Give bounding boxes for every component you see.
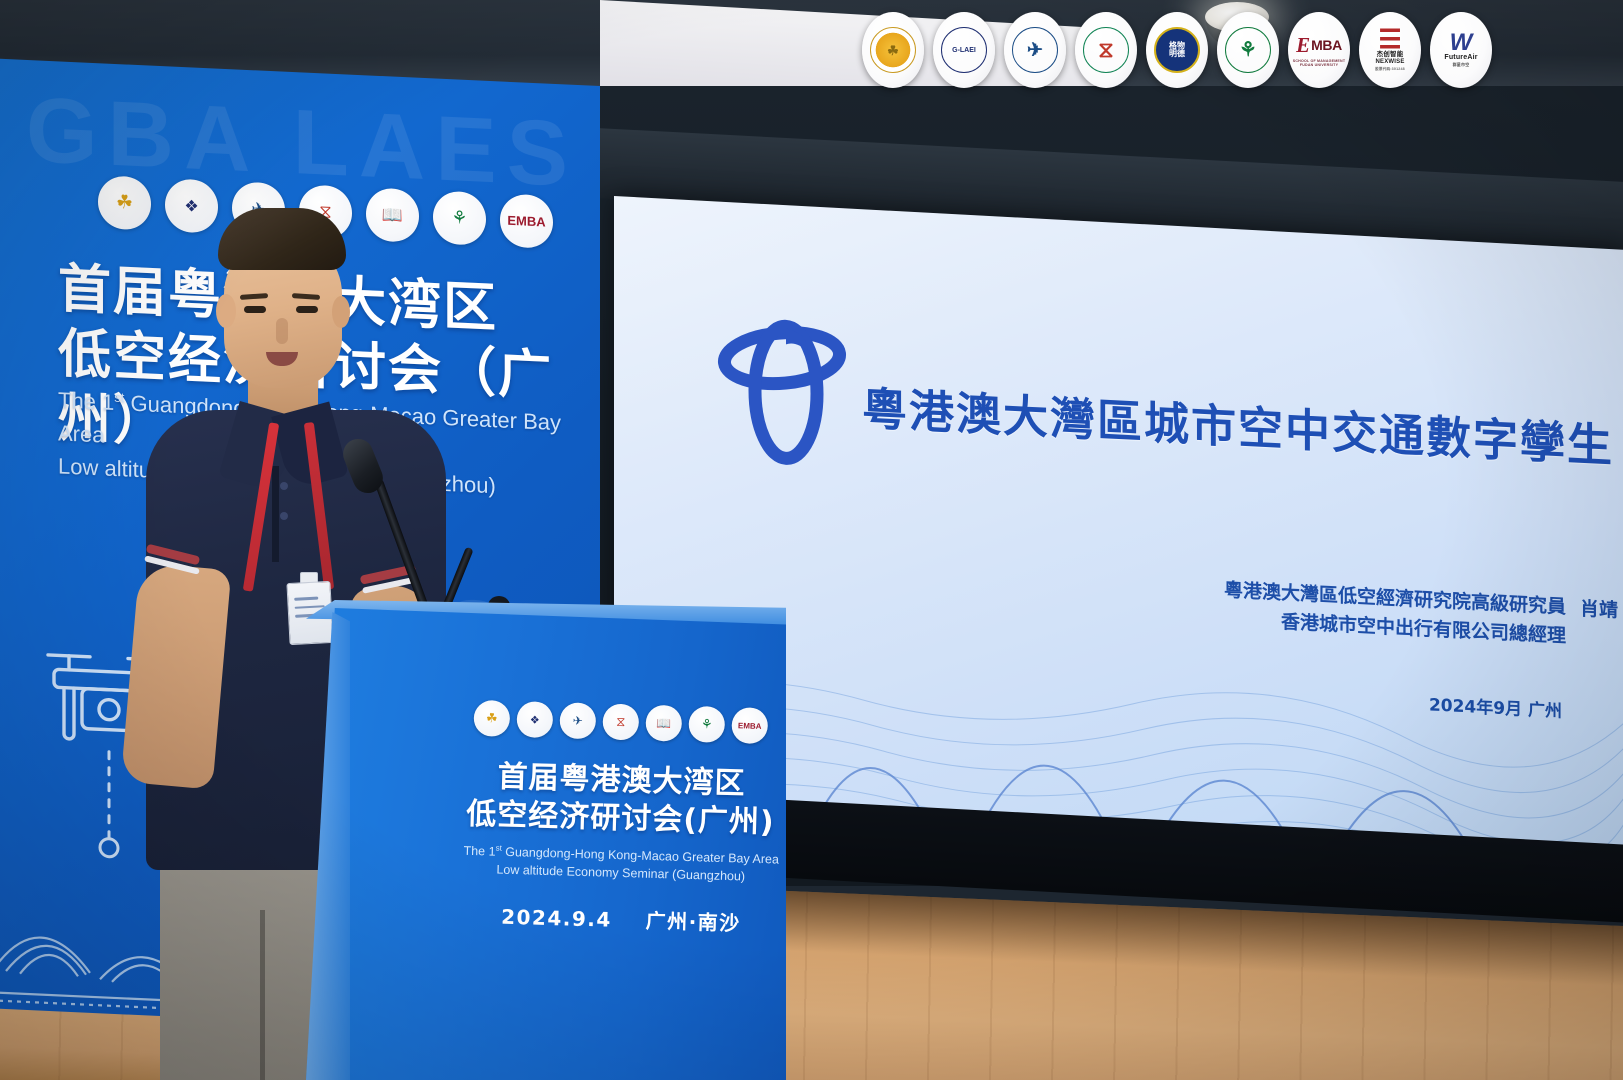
- lectern-logo-g-laei: ❖: [516, 701, 553, 738]
- presenter-eye-left: [244, 306, 266, 313]
- fudan-sub-label: SCHOOL OF MANAGEMENT FUDAN UNIVERSITY: [1288, 59, 1350, 67]
- futureair-en-label: FutureAir: [1444, 54, 1477, 62]
- wheat-crest-icon: ⚘: [1225, 27, 1271, 73]
- backdrop-logo-fudan-emba: EMBA: [500, 193, 553, 248]
- slide-title: 粵港澳大灣區城市空中交通數字孿生: [862, 372, 1614, 474]
- presenter-ear-left: [216, 294, 236, 328]
- lectern-logo-civil-aviation: ✈: [559, 702, 596, 739]
- open-book-icon: 格物明德: [1154, 27, 1200, 73]
- lectern-logo-phoenix: ☘: [473, 700, 510, 737]
- phoenix-icon: ☘: [870, 27, 916, 73]
- lectern-title: 首届粤港澳大湾区 低空经济研讨会(广州): [456, 757, 786, 842]
- presenter-hair: [218, 208, 346, 270]
- presenter-nose: [276, 318, 288, 344]
- polo-button-bottom: [280, 512, 288, 520]
- nexwise-code-label: 股票代码:301248: [1375, 67, 1405, 71]
- spiral-icon: ⧖: [1083, 27, 1129, 73]
- futureair-w-icon: W: [1450, 33, 1473, 53]
- badge-text-line-2: [295, 605, 325, 609]
- logo-nexwise-seal: ☰ 杰创智能 NEXWISE 股票代码:301248: [1359, 12, 1421, 88]
- logo-guangzhou-institute-seal: ⧖: [1075, 12, 1137, 88]
- orbital-globe-icon: [712, 303, 852, 478]
- logo-futureair-seal: W FutureAir 群星市空: [1430, 12, 1492, 88]
- nexwise-mark-icon: ☰: [1378, 29, 1401, 50]
- screenshot-scene: ☘ G-LAEI ✈ ⧖ 格物明德 ⚘: [0, 0, 1623, 1080]
- badge-text-line-1: [294, 597, 318, 601]
- presenter-eye-right: [296, 306, 318, 313]
- presenter-left-arm: [121, 562, 232, 789]
- polo-button-top: [280, 482, 288, 490]
- logo-fudan-emba-seal: E MBA SCHOOL OF MANAGEMENT FUDAN UNIVERS…: [1288, 12, 1350, 88]
- polo-placket: [272, 466, 279, 562]
- logo-must-macau-seal: 格物明德: [1146, 12, 1208, 88]
- logo-scau-university-seal: ⚘: [1217, 12, 1279, 88]
- fudan-mba-label: MBA: [1311, 37, 1342, 53]
- logo-g-laei-seal: G-LAEI: [933, 12, 995, 88]
- trouser-seam: [260, 910, 265, 1080]
- futureair-cn-label: 群星市空: [1453, 63, 1470, 67]
- lectern-date: 2024.9.4: [501, 905, 612, 932]
- lectern-logo-scau: ⚘: [688, 706, 725, 743]
- lectern-location: 广州·南沙: [645, 909, 741, 936]
- lectern-logo-must-macau: 📖: [645, 705, 682, 742]
- nexwise-cn-label: 杰创智能: [1377, 51, 1404, 58]
- lectern-date-row: 2024.9.4 广州·南沙: [456, 899, 786, 937]
- g-laei-icon: G-LAEI: [941, 27, 987, 73]
- logo-civil-aviation-seal: ✈: [1004, 12, 1066, 88]
- lectern-logo-fudan-emba: EMBA: [731, 707, 768, 744]
- nexwise-en-label: NEXWISE: [1375, 59, 1404, 66]
- presenter-ear-right: [332, 296, 350, 328]
- aviation-wing-icon: ✈: [1012, 27, 1058, 73]
- lectern-logo-row: ☘ ❖ ✈ ⧖ 📖 ⚘ EMBA: [456, 690, 786, 745]
- logo-gold-phoenix-seal: ☘: [862, 12, 924, 88]
- sponsor-logo-strip: ☘ G-LAEI ✈ ⧖ 格物明德 ⚘: [862, 12, 1492, 88]
- lectern-english: The 1st Guangdong-Hong Kong-Macao Greate…: [456, 841, 786, 887]
- fudan-e-icon: E: [1296, 33, 1310, 58]
- lectern-title-line2: 低空经济研讨会(广州): [456, 795, 786, 842]
- slide-presenter-name: 肖靖: [1580, 594, 1618, 623]
- lectern-sign: ☘ ❖ ✈ ⧖ 📖 ⚘ EMBA 首届粤港澳大湾区 低空经济研讨会(广州) Th…: [456, 690, 786, 1010]
- lectern-logo-guangzhou-institute: ⧖: [602, 704, 639, 741]
